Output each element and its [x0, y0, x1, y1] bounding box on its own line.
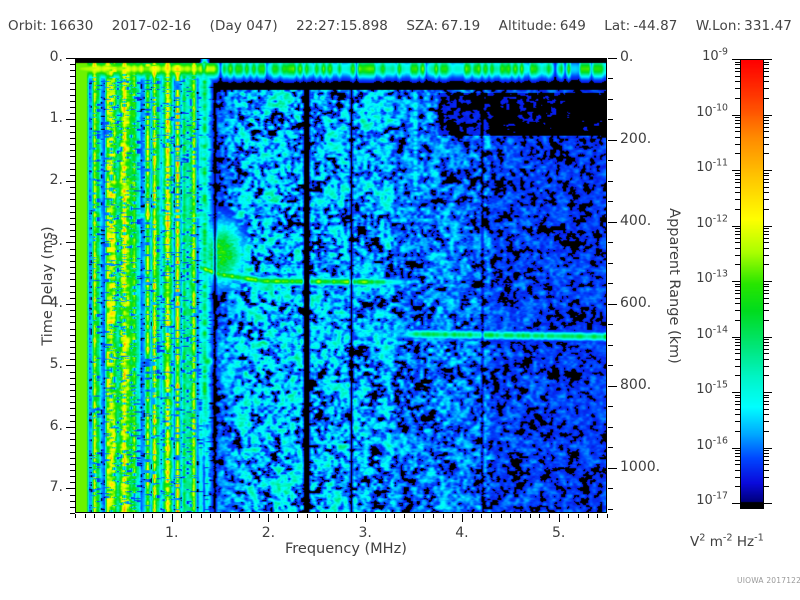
- y-axis-tick-left: [70, 175, 75, 176]
- y-axis-tick-left: [70, 378, 75, 379]
- colorbar-tick: [732, 337, 740, 338]
- colorbar-tick-label: 10-11: [696, 160, 728, 175]
- colorbar-minor-tick: [735, 359, 740, 360]
- colorbar-minor-tick: [764, 375, 769, 376]
- colorbar-tick: [732, 170, 740, 171]
- y-axis-tick-left: [70, 273, 75, 274]
- colorbar-minor-tick: [764, 456, 769, 457]
- colorbar-minor-tick: [735, 192, 740, 193]
- y-axis-tick-left: [70, 390, 75, 391]
- altitude-value: 649: [560, 18, 586, 34]
- x-axis-tick: [259, 514, 260, 518]
- y-axis-tick-left: [70, 249, 75, 250]
- colorbar-minor-tick: [764, 81, 769, 82]
- altitude-label: Altitude:: [499, 18, 557, 34]
- x-axis-tick: [578, 514, 579, 518]
- header-info-bar: Orbit:16630 2017-02-16 (Day 047) 22:27:1…: [0, 0, 800, 52]
- x-axis-tick: [414, 514, 415, 518]
- x-axis-tick: [462, 514, 463, 522]
- colorbar-minor-tick: [735, 477, 740, 478]
- y-axis-tick-left: [70, 298, 75, 299]
- x-axis-tick: [452, 514, 453, 518]
- colorbar-minor-tick: [735, 71, 740, 72]
- y-axis-tick-right: [608, 99, 613, 100]
- colorbar-minor-tick: [764, 359, 769, 360]
- y-axis-tick-left: [66, 304, 75, 305]
- x-axis-tick: [230, 514, 231, 518]
- y-axis-tick-label-right: 800.: [620, 377, 651, 393]
- colorbar-minor-tick: [735, 120, 740, 121]
- y-axis-tick-label-right: 1000.: [620, 459, 660, 475]
- colorbar-minor-tick: [764, 71, 769, 72]
- altitude-field: Altitude:649: [499, 18, 586, 34]
- colorbar-minor-tick: [735, 137, 740, 138]
- colorbar-minor-tick: [735, 286, 740, 287]
- colorbar-minor-tick: [735, 353, 740, 354]
- x-axis-tick: [210, 514, 211, 518]
- x-axis-tick: [394, 514, 395, 518]
- x-axis-tick: [75, 514, 76, 518]
- colorbar-minor-tick: [764, 137, 769, 138]
- colorbar-tick-label: 10-15: [696, 382, 728, 397]
- colorbar-minor-tick: [735, 88, 740, 89]
- colorbar-minor-tick: [764, 179, 769, 180]
- y-axis-tick-left: [70, 212, 75, 213]
- colorbar-minor-tick: [735, 62, 740, 63]
- y-axis-tick-right: [608, 119, 613, 120]
- y-axis-tick-right: [608, 304, 617, 305]
- sza-label: SZA:: [406, 18, 438, 34]
- y-axis-tick-left: [70, 126, 75, 127]
- x-axis-tick: [530, 514, 531, 518]
- colorbar-tick: [732, 226, 740, 227]
- y-axis-tick-left: [70, 292, 75, 293]
- colorbar-minor-tick: [764, 264, 769, 265]
- colorbar-minor-tick: [735, 395, 740, 396]
- colorbar-minor-tick: [735, 175, 740, 176]
- y-axis-tick-label-right: 200.: [620, 131, 651, 147]
- y-axis-tick-left: [70, 187, 75, 188]
- y-axis-tick-right: [608, 509, 613, 510]
- colorbar-tick-base: 10: [696, 216, 713, 231]
- y-axis-tick-label-right: 0.: [620, 49, 633, 65]
- colorbar-tick: [764, 503, 772, 504]
- colorbar-tick-label: 10-9: [702, 49, 728, 64]
- x-axis-tick: [365, 514, 366, 522]
- y-axis-tick-left: [66, 488, 75, 489]
- y-axis-tick-left: [70, 76, 75, 77]
- latitude-label: Lat:: [604, 18, 630, 34]
- x-axis-tick: [559, 514, 560, 522]
- day-of-year-field: (Day 047): [210, 18, 278, 34]
- colorbar-minor-tick: [764, 366, 769, 367]
- colorbar-minor-tick: [764, 286, 769, 287]
- colorbar-tick-exponent: -16: [713, 435, 728, 446]
- spectrogram-canvas: [76, 59, 606, 512]
- x-axis-tick: [568, 514, 569, 518]
- west-longitude-label: W.Lon:: [696, 18, 741, 34]
- colorbar-tick-exponent: -14: [713, 324, 728, 335]
- x-axis-tick: [375, 514, 376, 518]
- y-axis-tick-left: [70, 464, 75, 465]
- y-axis-tick-right: [608, 283, 613, 284]
- colorbar-minor-tick: [764, 470, 769, 471]
- y-axis-tick-left: [66, 181, 75, 182]
- unit-hertz-exponent: -1: [754, 533, 764, 544]
- y-axis-tick-left: [70, 163, 75, 164]
- x-axis-tick: [201, 514, 202, 518]
- y-axis-tick-left: [70, 255, 75, 256]
- y-axis-tick-left: [70, 144, 75, 145]
- colorbar-minor-tick: [764, 98, 769, 99]
- colorbar-minor-tick: [764, 353, 769, 354]
- colorbar-minor-tick: [764, 404, 769, 405]
- colorbar-minor-tick: [764, 303, 769, 304]
- y-axis-tick-left: [70, 206, 75, 207]
- y-axis-tick-left: [70, 445, 75, 446]
- y-axis-tick-label-left: 5.: [50, 356, 63, 372]
- spectrogram-plot-area: [75, 58, 607, 513]
- y-axis-tick-left: [70, 495, 75, 496]
- sza-value: 67.19: [441, 18, 480, 34]
- colorbar-minor-tick: [764, 284, 769, 285]
- y-axis-tick-left: [70, 132, 75, 133]
- colorbar-minor-tick: [735, 397, 740, 398]
- colorbar-minor-tick: [735, 298, 740, 299]
- y-axis-tick-left: [70, 359, 75, 360]
- colorbar-minor-tick: [735, 460, 740, 461]
- y-axis-tick-left: [66, 427, 75, 428]
- west-longitude-field: W.Lon:331.47: [696, 18, 792, 34]
- y-axis-tick-right: [608, 345, 613, 346]
- colorbar-minor-tick: [764, 450, 769, 451]
- y-axis-tick-label-left: 1.: [50, 110, 63, 126]
- colorbar-unit-label: V2 m-2 Hz-1: [690, 534, 764, 550]
- y-axis-tick-right: [608, 58, 617, 59]
- y-axis-tick-left: [70, 347, 75, 348]
- y-axis-tick-right: [608, 427, 613, 428]
- x-axis-tick: [278, 514, 279, 518]
- colorbar-minor-tick: [764, 453, 769, 454]
- x-axis-tick: [123, 514, 124, 518]
- colorbar-minor-tick: [735, 123, 740, 124]
- y-axis-tick-right: [608, 488, 613, 489]
- colorbar-tick-exponent: -11: [713, 158, 728, 169]
- colorbar-tick-base: 10: [696, 493, 713, 508]
- colorbar-tick: [732, 448, 740, 449]
- x-axis-tick: [239, 514, 240, 518]
- y-axis-tick-left: [70, 408, 75, 409]
- colorbar-tick-label: 10-16: [696, 438, 728, 453]
- y-axis-tick-left: [70, 507, 75, 508]
- x-axis-tick: [181, 514, 182, 518]
- y-axis-tick-left: [70, 396, 75, 397]
- y-axis-tick-right: [608, 222, 617, 223]
- colorbar-tick-exponent: -13: [713, 269, 728, 280]
- colorbar-minor-tick: [764, 153, 769, 154]
- x-axis-tick: [356, 514, 357, 518]
- colorbar-minor-tick: [764, 397, 769, 398]
- colorbar-minor-tick: [735, 234, 740, 235]
- unit-hertz: Hz: [737, 534, 754, 550]
- colorbar-minor-tick: [735, 199, 740, 200]
- colorbar-tick: [764, 337, 772, 338]
- x-axis-tick: [133, 514, 134, 518]
- colorbar-minor-tick: [735, 339, 740, 340]
- y-axis-tick-right: [608, 201, 613, 202]
- colorbar-minor-tick: [735, 173, 740, 174]
- y-axis-tick-left: [70, 316, 75, 317]
- x-axis-tick: [85, 514, 86, 518]
- x-axis-tick: [423, 514, 424, 518]
- colorbar-minor-tick: [764, 310, 769, 311]
- colorbar-minor-tick: [735, 375, 740, 376]
- colorbar-minor-tick: [764, 342, 769, 343]
- y-axis-tick-left: [70, 421, 75, 422]
- colorbar-tick-label: 10-17: [696, 493, 728, 508]
- x-axis-tick: [172, 514, 173, 522]
- y-axis-tick-right: [608, 365, 613, 366]
- colorbar-minor-tick: [735, 349, 740, 350]
- x-axis-tick: [433, 514, 434, 518]
- x-axis-tick: [607, 514, 608, 518]
- colorbar-minor-tick: [735, 470, 740, 471]
- x-axis-tick: [317, 514, 318, 518]
- x-axis-title: Frequency (MHz): [285, 541, 407, 557]
- unit-volts: V: [690, 534, 699, 550]
- colorbar-tick-base: 10: [696, 160, 713, 175]
- y-axis-tick-left: [70, 193, 75, 194]
- y-axis-tick-right: [608, 181, 613, 182]
- colorbar-tick: [764, 115, 772, 116]
- colorbar-minor-tick: [735, 81, 740, 82]
- orbit-field: Orbit:16630: [8, 18, 93, 34]
- y-axis-tick-left: [70, 218, 75, 219]
- colorbar-minor-tick: [764, 349, 769, 350]
- y-axis-tick-left: [70, 279, 75, 280]
- colorbar-minor-tick: [735, 98, 740, 99]
- colorbar-minor-tick: [764, 414, 769, 415]
- y-axis-tick-left: [70, 101, 75, 102]
- colorbar-minor-tick: [764, 62, 769, 63]
- y-axis-tick-left: [70, 476, 75, 477]
- y-axis-tick-left: [70, 156, 75, 157]
- x-axis-tick: [268, 514, 269, 522]
- y-axis-tick-left: [70, 286, 75, 287]
- colorbar-minor-tick: [735, 303, 740, 304]
- colorbar-minor-tick: [764, 120, 769, 121]
- y-axis-title-left: Time Delay (ms): [40, 216, 56, 356]
- y-axis-tick-left: [70, 335, 75, 336]
- y-axis-tick-left: [70, 341, 75, 342]
- colorbar-tick: [732, 115, 740, 116]
- y-axis-tick-left: [66, 58, 75, 59]
- x-axis-tick-label: 3.: [358, 525, 371, 541]
- y-axis-tick-left: [70, 372, 75, 373]
- y-axis-tick-left: [70, 199, 75, 200]
- x-axis-tick-label: 2.: [262, 525, 275, 541]
- x-axis-tick: [152, 514, 153, 518]
- colorbar-minor-tick: [764, 68, 769, 69]
- colorbar-minor-tick: [764, 175, 769, 176]
- colorbar-minor-tick: [735, 264, 740, 265]
- colorbar-gradient: [740, 59, 764, 509]
- colorbar-minor-tick: [764, 228, 769, 229]
- y-axis-tick-label-left: 0.: [50, 49, 63, 65]
- y-axis-tick-left: [70, 439, 75, 440]
- colorbar-minor-tick: [735, 453, 740, 454]
- colorbar-tick-base: 10: [696, 271, 713, 286]
- x-axis-tick: [472, 514, 473, 518]
- y-axis-tick-left: [70, 310, 75, 311]
- x-axis-tick: [307, 514, 308, 518]
- x-axis-tick: [501, 514, 502, 518]
- colorbar-tick-base: 10: [696, 327, 713, 342]
- x-axis-tick: [162, 514, 163, 518]
- colorbar-minor-tick: [764, 234, 769, 235]
- colorbar-minor-tick: [764, 293, 769, 294]
- colorbar-minor-tick: [764, 144, 769, 145]
- y-axis-tick-left: [70, 433, 75, 434]
- y-axis-tick-right: [608, 160, 613, 161]
- colorbar-minor-tick: [735, 464, 740, 465]
- colorbar-minor-tick: [735, 182, 740, 183]
- colorbar-minor-tick: [735, 414, 740, 415]
- colorbar-minor-tick: [764, 187, 769, 188]
- y-axis-tick-left: [70, 329, 75, 330]
- colorbar-minor-tick: [764, 199, 769, 200]
- colorbar-tick: [764, 170, 772, 171]
- x-axis-tick-label: 5.: [552, 525, 565, 541]
- y-axis-tick-label-right: 600.: [620, 295, 651, 311]
- y-axis-tick-label-left: 2.: [50, 172, 63, 188]
- latitude-field: Lat:-44.87: [604, 18, 677, 34]
- y-axis-tick-left: [70, 402, 75, 403]
- y-axis-title-right: Apparent Range (km): [666, 201, 682, 371]
- colorbar-minor-tick: [764, 421, 769, 422]
- y-axis-tick-left: [70, 353, 75, 354]
- colorbar-tick-exponent: -12: [713, 213, 728, 224]
- colorbar-minor-tick: [735, 117, 740, 118]
- y-axis-tick-left: [70, 89, 75, 90]
- colorbar-minor-tick: [764, 238, 769, 239]
- colorbar-minor-tick: [764, 248, 769, 249]
- y-axis-tick-left: [70, 384, 75, 385]
- y-axis-tick-left: [70, 501, 75, 502]
- x-axis-tick: [191, 514, 192, 518]
- colorbar-minor-tick: [735, 320, 740, 321]
- colorbar-minor-tick: [735, 248, 740, 249]
- colorbar-minor-tick: [764, 460, 769, 461]
- colorbar-minor-tick: [764, 409, 769, 410]
- y-axis-tick-left: [66, 242, 75, 243]
- x-axis-tick: [94, 514, 95, 518]
- colorbar-minor-tick: [764, 76, 769, 77]
- colorbar-tick-label: 10-12: [696, 216, 728, 231]
- x-axis-tick: [220, 514, 221, 518]
- colorbar-minor-tick: [764, 242, 769, 243]
- colorbar-minor-tick: [764, 298, 769, 299]
- y-axis-tick-left: [70, 470, 75, 471]
- colorbar-minor-tick: [735, 144, 740, 145]
- y-axis-tick-right: [608, 324, 613, 325]
- y-axis-tick-left: [70, 107, 75, 108]
- y-axis-tick-left: [70, 267, 75, 268]
- date-field: 2017-02-16: [112, 18, 191, 34]
- colorbar-minor-tick: [764, 231, 769, 232]
- y-axis-tick-left: [70, 138, 75, 139]
- y-axis-tick-left: [70, 169, 75, 170]
- y-axis-tick-left: [70, 458, 75, 459]
- colorbar-minor-tick: [735, 228, 740, 229]
- y-axis-tick-left: [70, 150, 75, 151]
- colorbar-tick: [764, 281, 772, 282]
- x-axis-tick: [549, 514, 550, 518]
- colorbar-minor-tick: [764, 464, 769, 465]
- colorbar-minor-tick: [735, 68, 740, 69]
- colorbar-tick-label: 10-14: [696, 327, 728, 342]
- colorbar-tick-exponent: -15: [713, 380, 728, 391]
- colorbar-tick: [764, 59, 772, 60]
- colorbar-minor-tick: [735, 310, 740, 311]
- y-axis-tick-right: [608, 78, 613, 79]
- colorbar-minor-tick: [735, 290, 740, 291]
- colorbar-tick-base: 10: [696, 105, 713, 120]
- y-axis-tick-left: [70, 230, 75, 231]
- x-axis-tick: [104, 514, 105, 518]
- colorbar-minor-tick: [735, 404, 740, 405]
- x-axis-tick: [520, 514, 521, 518]
- y-axis-tick-right: [608, 263, 613, 264]
- time-field: 22:27:15.898: [296, 18, 388, 34]
- colorbar-tick: [764, 226, 772, 227]
- colorbar-tick-exponent: -10: [713, 102, 728, 113]
- x-axis-tick: [297, 514, 298, 518]
- colorbar-minor-tick: [735, 76, 740, 77]
- unit-meters-exponent: -2: [723, 533, 733, 544]
- x-axis-tick: [288, 514, 289, 518]
- colorbar-minor-tick: [764, 401, 769, 402]
- colorbar-minor-tick: [764, 182, 769, 183]
- y-axis-tick-right: [608, 140, 617, 141]
- colorbar-minor-tick: [735, 401, 740, 402]
- colorbar-minor-tick: [764, 290, 769, 291]
- y-axis-tick-left: [70, 64, 75, 65]
- colorbar-minor-tick: [735, 255, 740, 256]
- colorbar-minor-tick: [764, 88, 769, 89]
- colorbar-minor-tick: [764, 486, 769, 487]
- colorbar-minor-tick: [735, 409, 740, 410]
- colorbar-tick: [732, 59, 740, 60]
- x-axis-tick: [143, 514, 144, 518]
- colorbar-tick-base: 10: [696, 438, 713, 453]
- colorbar-minor-tick: [735, 366, 740, 367]
- colorbar-minor-tick: [764, 192, 769, 193]
- colorbar-tick-exponent: -17: [713, 491, 728, 502]
- x-axis-tick-label: 1.: [165, 525, 178, 541]
- x-axis-tick: [491, 514, 492, 518]
- y-axis-tick-left: [70, 415, 75, 416]
- colorbar-minor-tick: [735, 238, 740, 239]
- colorbar-minor-tick: [735, 127, 740, 128]
- y-axis-tick-left: [70, 113, 75, 114]
- colorbar-minor-tick: [735, 345, 740, 346]
- x-axis-tick: [597, 514, 598, 518]
- x-axis-tick: [510, 514, 511, 518]
- x-axis-tick: [114, 514, 115, 518]
- colorbar: [740, 59, 764, 509]
- colorbar-minor-tick: [764, 395, 769, 396]
